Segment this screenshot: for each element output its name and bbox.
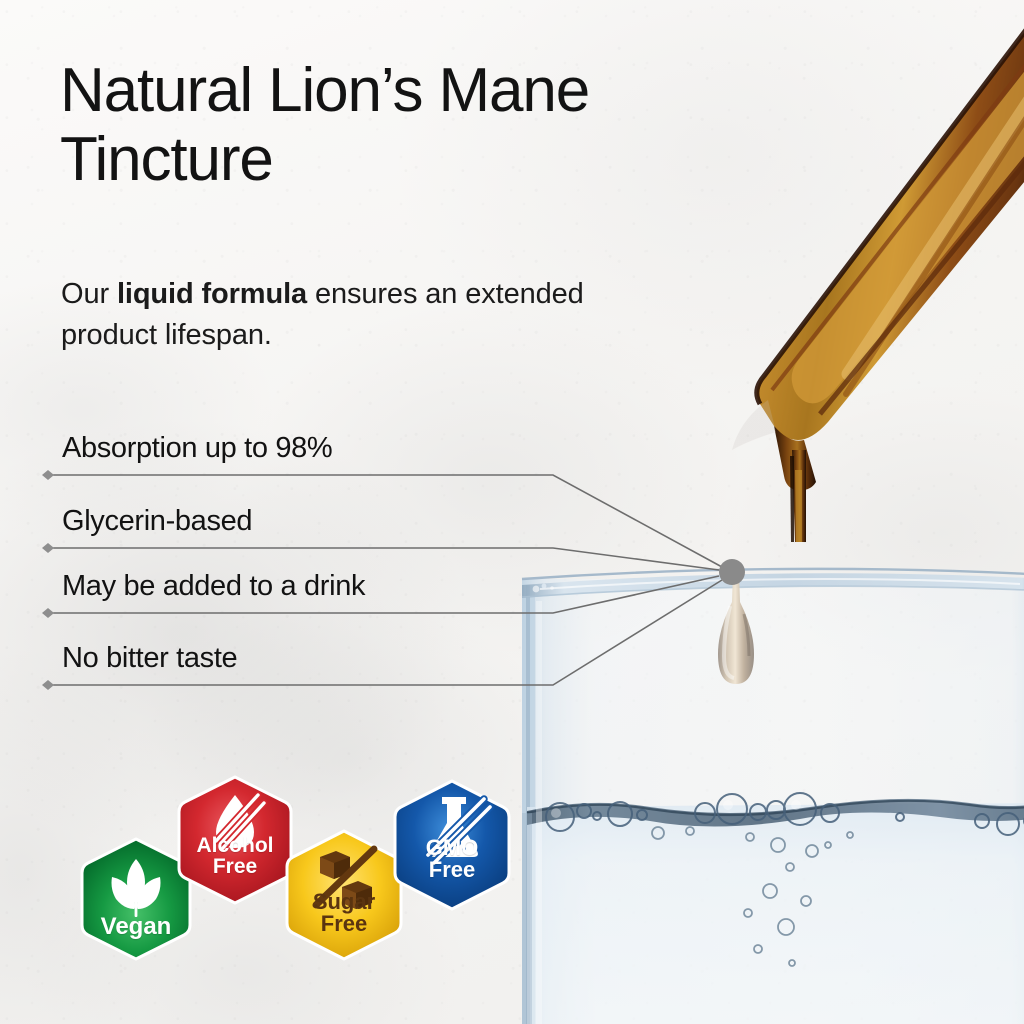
badge-gmo-free: GMO Free [388, 779, 516, 911]
feature-item-glycerin: Glycerin-based [62, 505, 252, 538]
product-infographic: Natural Lion’s Mane Tincture Our liquid … [0, 0, 1024, 1024]
certification-badges: Vegan [60, 765, 560, 975]
feature-item-absorption: Absorption up to 98% [62, 432, 332, 465]
feature-item-drink: May be added to a drink [62, 570, 365, 603]
subheading-prefix: Our [61, 278, 117, 310]
page-title: Natural Lion’s Mane Tincture [60, 56, 820, 195]
subheading-emphasis: liquid formula [117, 278, 307, 310]
feature-item-taste: No bitter taste [62, 642, 237, 675]
callout-hub-dot [719, 559, 745, 585]
subheading: Our liquid formula ensures an extended p… [61, 274, 621, 356]
